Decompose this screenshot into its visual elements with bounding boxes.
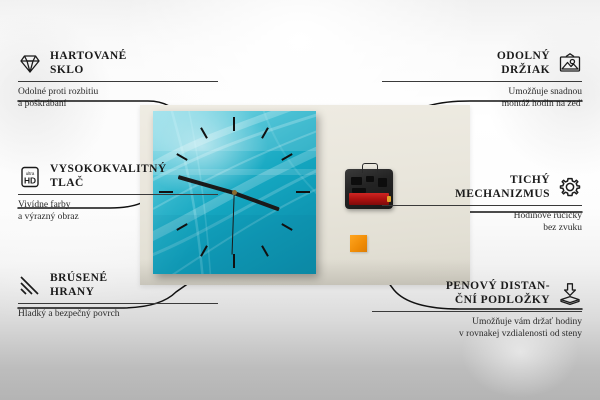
feature-title-line-2: MECHANIZMUS [455,188,550,200]
feature-foam-spacers: PENOVÝ DISTAN- ČNÍ PODLOŽKY Umožňuje vám… [372,280,582,340]
feature-divider [382,81,582,82]
ultra-hd-icon: ultra HD [18,165,42,189]
feature-title-line-2: SKLO [50,64,84,76]
feature-title-line-1: ODOLNÝ [497,50,550,62]
feature-desc-line-1: Hodinové ručičky [514,211,582,221]
feature-desc-line-2: a poškrábaní [18,99,66,109]
feature-silent-mechanism: TICHÝ MECHANIZMUS Hodinové ručičky bez z… [382,174,582,234]
feature-tempered-glass: HARTOVANÉ SKLO Odolné proti rozbitiu a p… [18,50,218,110]
feature-title-line-1: TICHÝ [510,174,550,186]
svg-text:HD: HD [24,175,36,185]
brushed-edge-icon [18,274,42,298]
feature-title-line-2: DRŽIAK [501,64,550,76]
feature-desc-line-2: a výrazný obraz [18,212,79,222]
foam-spacer-icon [558,282,582,306]
feature-desc-line-1: Hladký a bezpečný povrch [18,309,120,319]
feature-desc-line-1: Umožňuje snadnou [508,87,582,97]
diamond-icon [18,52,42,76]
feature-title-line-2: HRANY [50,286,94,298]
hour-tick-12 [233,117,235,131]
feature-desc-line-1: Vivídne farby [18,200,70,210]
feature-title-line-1: HARTOVANÉ [50,50,127,62]
mechanism-hanger [362,163,378,173]
feature-polished-edges: BRÚSENÉ HRANY Hladký a bezpečný povrch [18,272,218,321]
feature-high-quality-print: ultra HD VYSOKOKVALITNÝ TLAČ Vivídne far… [18,163,218,223]
feature-title-line-2: TLAČ [50,177,84,189]
feature-divider [382,205,582,206]
promo-banner: HARTOVANÉ SKLO Odolné proti rozbitiu a p… [0,0,600,400]
hour-tick-3 [296,191,310,193]
feature-title-line-1: PENOVÝ DISTAN- [446,280,550,292]
feature-durable-hanger: ODOLNÝ DRŽIAK Umožňuje snadnou montáž ho… [382,50,582,110]
feature-desc-line-2: v rovnakej vzdialenosti od steny [459,329,582,339]
feature-desc-line-2: montáž hodin na zeď [502,99,582,109]
feature-desc-line-1: Umožňuje vám držať hodiny [472,317,582,327]
gear-icon [558,176,582,200]
feature-title-line-1: BRÚSENÉ [50,272,107,284]
feature-title-line-1: VYSOKOKVALITNÝ [50,163,167,175]
feature-divider [18,303,218,304]
feature-divider [372,311,582,312]
clock-center-pin [232,190,237,195]
foam-spacer-pad [350,235,367,252]
feature-divider [18,81,218,82]
feature-desc-line-2: bez zvuku [543,223,582,233]
feature-desc-line-1: Odolné proti rozbitiu [18,87,98,97]
picture-hanger-icon [558,52,582,76]
feature-divider [18,194,218,195]
hour-tick-6 [233,254,235,268]
feature-title-line-2: ČNÍ PODLOŽKY [455,294,550,306]
